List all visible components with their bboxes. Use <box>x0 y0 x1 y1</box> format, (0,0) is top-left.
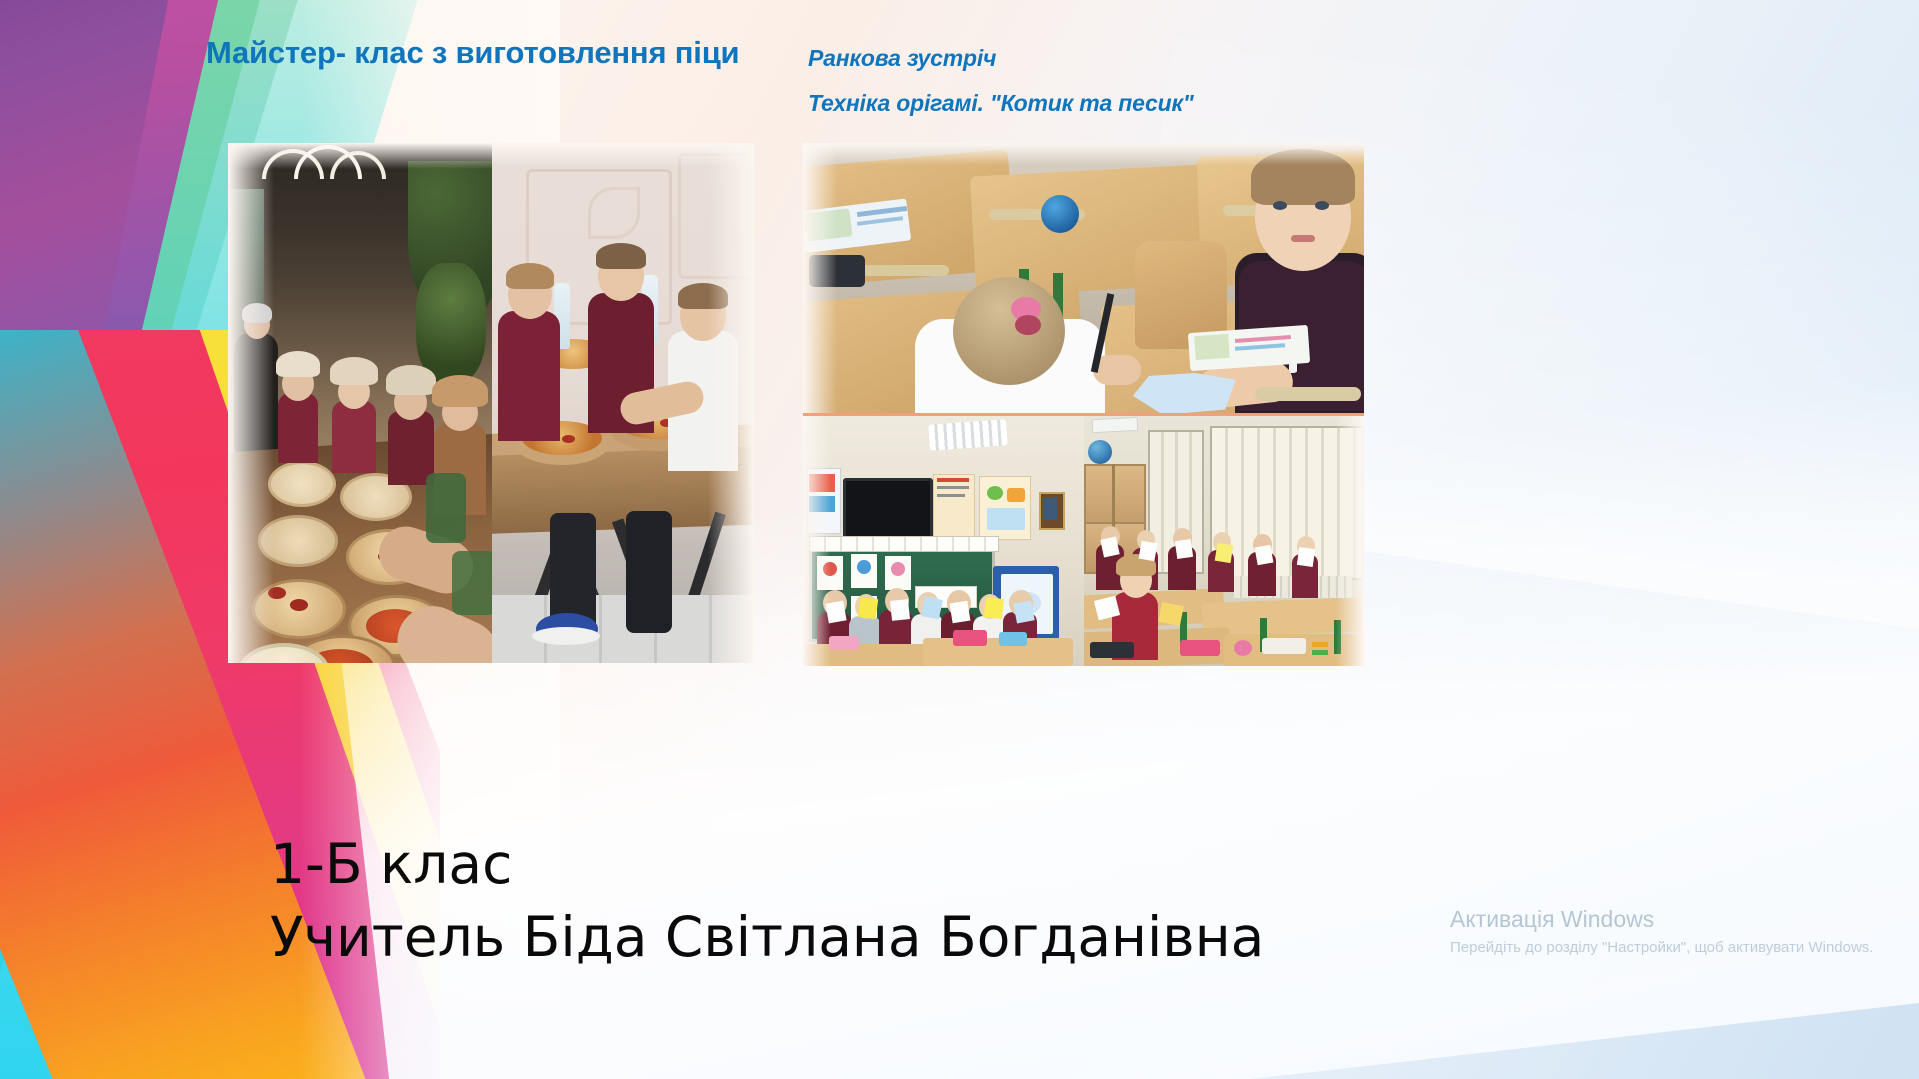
watermark-title: Активація Windows <box>1450 905 1890 934</box>
slide-title-left: Майстер- клас з виготовлення піци <box>206 36 746 71</box>
slide-title-right-line2: Техніка орігамі. "Котик та песик" <box>808 81 1368 126</box>
photo-classroom-group-standing <box>803 413 1084 666</box>
photo-classroom-children-seated <box>1084 413 1364 666</box>
slide-title-right-line1: Ранкова зустріч <box>808 45 996 71</box>
presentation-slide: Майстер- клас з виготовлення піци Ранков… <box>0 0 1919 1079</box>
slide-title-right: Ранкова зустріч Техніка орігамі. "Котик … <box>808 36 1368 126</box>
slide-footer-text: 1-Б клас Учитель Біда Світлана Богданівн… <box>270 828 1264 973</box>
photo-pizza-children-eating <box>492 143 754 663</box>
watermark-subtitle: Перейдіть до розділу "Настройки", щоб ак… <box>1450 937 1890 958</box>
photo-pizza-workshop-long-table <box>228 143 492 663</box>
photo-origami-children-desks <box>803 143 1364 413</box>
windows-activation-watermark: Активація Windows Перейдіть до розділу "… <box>1450 905 1890 958</box>
